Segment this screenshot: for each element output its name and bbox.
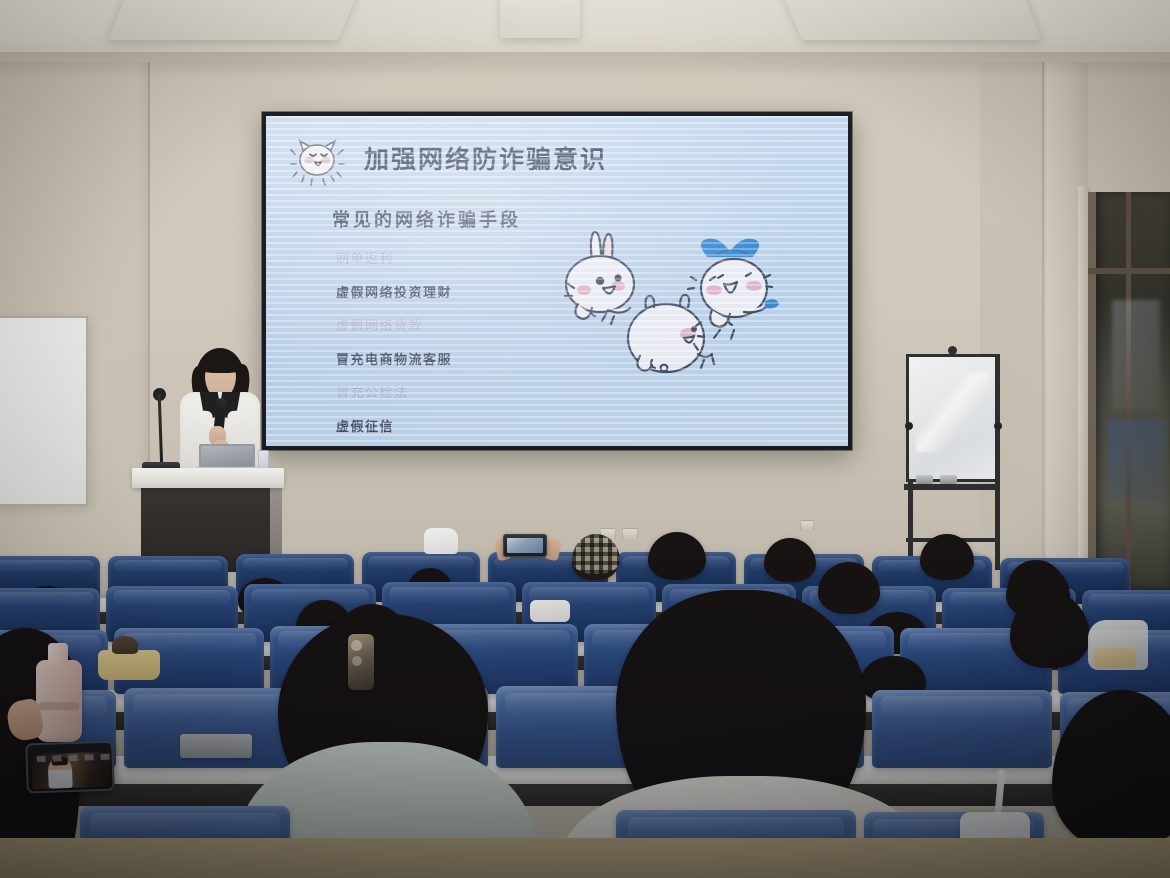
seat: [872, 690, 1052, 768]
slide-list-item: 虚假征信: [336, 416, 452, 435]
video-subject: [48, 758, 73, 789]
phone-video-content: [32, 752, 111, 790]
slide-bullet-list: 刷单返利 虚假网络投资理财 虚假网络贷款 冒充电商物流客服 冒充公检法 虚假征信: [336, 248, 452, 446]
window-reflection: [1112, 300, 1160, 410]
phone-raised: [503, 534, 547, 557]
ceiling-soffit-right: [778, 0, 1041, 40]
yellow-pouch: [98, 650, 160, 680]
slide-title: 加强网络防诈骗意识: [364, 140, 607, 176]
slide-subtitle: 常见的网络诈骗手段: [332, 206, 521, 232]
slide-list-item: 冒充电商物流客服: [336, 349, 452, 368]
ceiling-soffit-center: [500, 0, 580, 38]
lecture-hall-photo: 加强网络防诈骗意识 常见的网络诈骗手段 刷单返利 虚假网络投资理财 虚假网络贷款…: [0, 0, 1170, 878]
slide-surface: 加强网络防诈骗意识 常见的网络诈骗手段 刷单返利 虚假网络投资理财 虚假网络贷款…: [266, 116, 848, 446]
tablet-on-desk: [180, 734, 252, 758]
whiteboard-surface: [906, 354, 998, 482]
slide-list-item: 刷单返利: [336, 248, 452, 267]
tissue-pack: [424, 528, 458, 554]
ceiling-shadow: [0, 52, 1170, 78]
slide-title-row: 加强网络防诈骗意识: [288, 140, 607, 176]
slide-list-item: 冒充公检法: [336, 382, 452, 401]
wall-corner-seam-right: [1042, 10, 1044, 590]
window-reflection: [1108, 420, 1166, 500]
projection-screen: 加强网络防诈骗意识 常见的网络诈骗手段 刷单返利 虚假网络投资理财 虚假网络贷款…: [262, 112, 852, 450]
character-illustration-group: [548, 226, 818, 411]
phone-playing-video[interactable]: [25, 740, 115, 793]
slide-list-item: 虚假网络贷款: [336, 315, 452, 334]
wall-whiteboard-left: [0, 316, 88, 506]
plastic-bag: [1088, 620, 1148, 670]
rabbit-character-icon: [565, 232, 634, 324]
slide-list-item: 虚假网络投资理财: [336, 282, 452, 301]
whiteboard-eraser: [940, 475, 957, 484]
laptop-screen: [199, 444, 255, 468]
ceiling-soffit-left: [108, 0, 361, 40]
tissue-pack: [530, 600, 570, 622]
whiteboard-eraser: [916, 475, 933, 484]
easel-tray: [904, 484, 1000, 490]
easel-pivot: [994, 422, 1002, 430]
pink-water-bottle: [36, 660, 82, 742]
hair-clip: [348, 634, 374, 690]
floor: [0, 838, 1170, 878]
wall-outlet: [800, 520, 814, 531]
easel-pivot: [905, 422, 913, 430]
audience-head: [764, 538, 816, 582]
left-wall: [0, 0, 150, 600]
audience-head: [920, 534, 974, 580]
podium-top: [132, 468, 284, 488]
round-character-icon: [628, 295, 714, 372]
video-ui-bar: [37, 754, 111, 763]
wall-outlet: [622, 528, 638, 540]
